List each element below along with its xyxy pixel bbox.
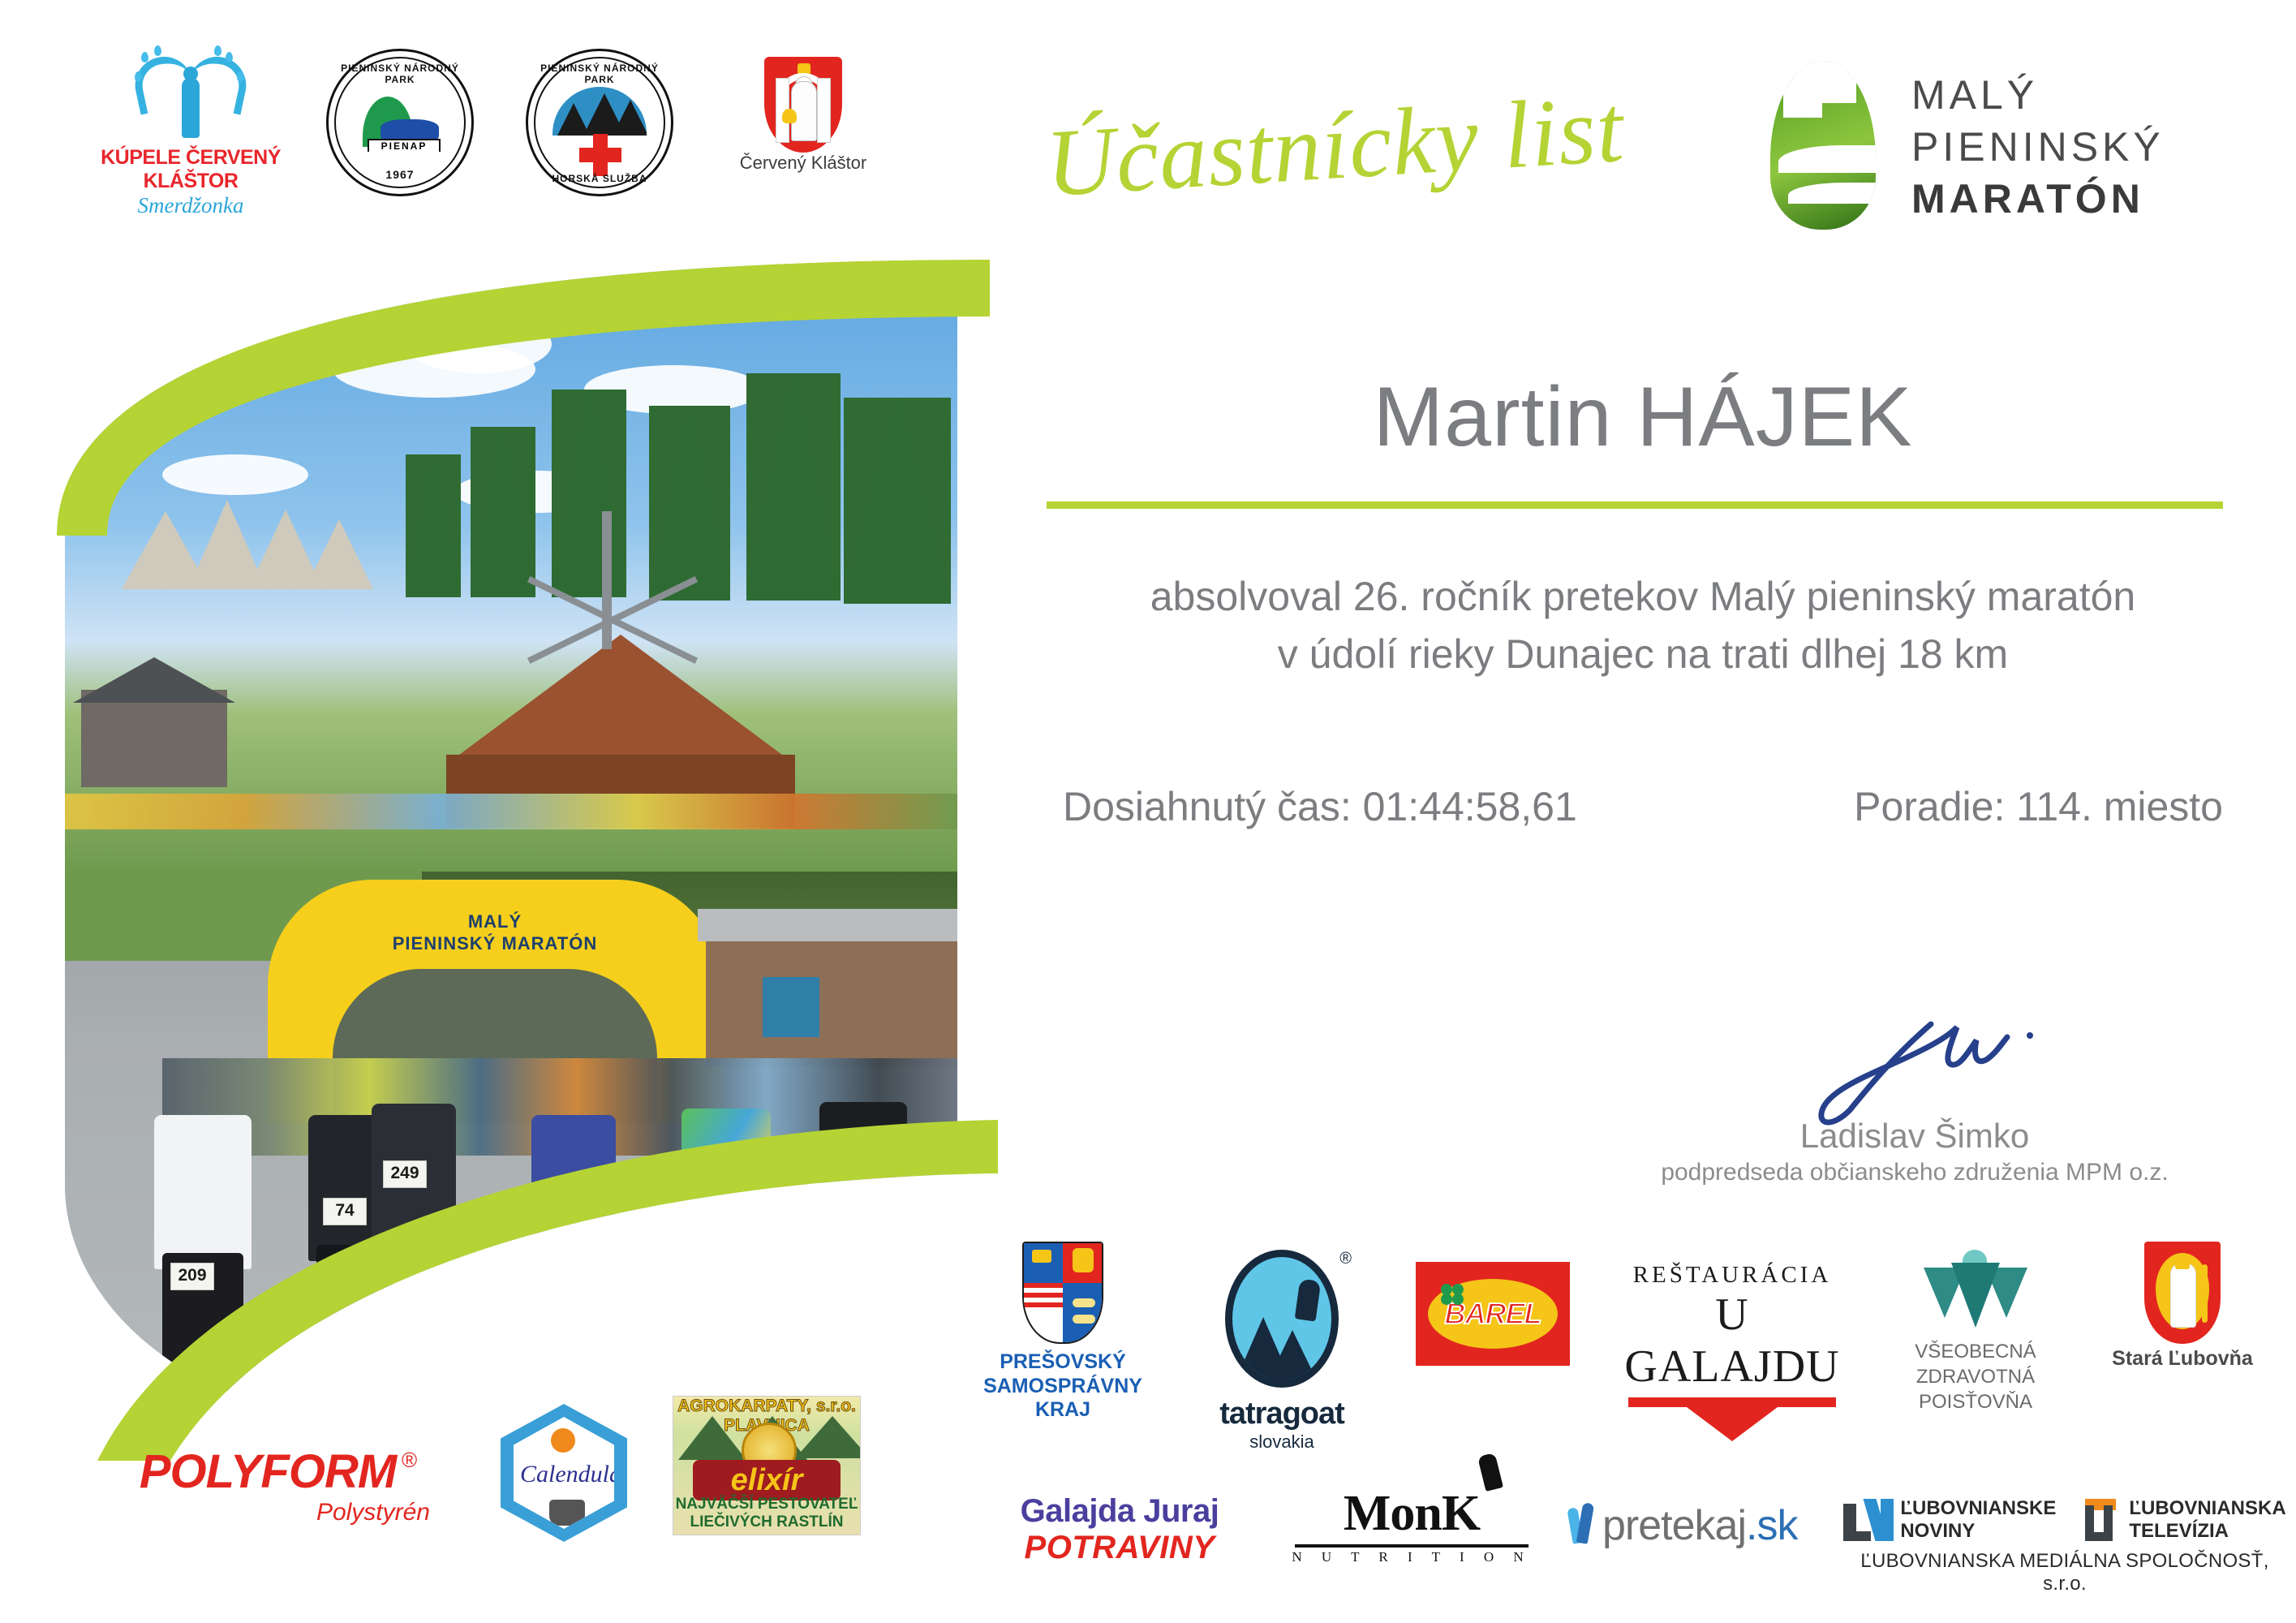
tatragoat-wordmark: tatragoat — [1180, 1397, 1383, 1431]
spa-angel-icon — [130, 49, 252, 146]
calendula-wordmark: Calendula — [520, 1461, 608, 1488]
polyform-subtitle: Polystyrén — [105, 1499, 430, 1526]
hs-arc-top: PIENINSKÝ NÁRODNÝ PARK — [528, 62, 671, 85]
monk-running-figure-icon — [1477, 1453, 1503, 1492]
sponsor-calendula: Calendula — [491, 1404, 637, 1542]
u-galajdu-top: REŠTAURÁCIA — [1615, 1262, 1850, 1289]
tv-line-2: TELEVÍZIA — [2129, 1520, 2285, 1543]
sponsor-pretekaj-sk: pretekaj.sk — [1570, 1501, 1846, 1550]
agrokarpaty-label-icon: AGROKARPATY, s.r.o. PLAVNICA elixír NAJV… — [673, 1396, 861, 1535]
pienap-year: 1967 — [329, 168, 471, 181]
sponsor-vseobecna-zdravotna-poistovna: VŠEOBECNÁ ZDRAVOTNÁ POISŤOVŇA — [1882, 1250, 2069, 1415]
result-row: Dosiahnutý čas: 01:44:58,61 Poradie: 114… — [1047, 783, 2239, 830]
kupele-line2: Smerdžonka — [81, 193, 300, 218]
pretekaj-runner-icon — [1570, 1503, 1594, 1548]
sponsor-lubovnianska-medialna-spolocnost: ĽUBOVNIANSKE NOVINY ĽUBOVNIANSKA TELEVÍZ… — [1850, 1497, 2280, 1595]
logo-cerveny-klastor: Červený Kláštor — [730, 57, 876, 174]
lubovnianska-televizia-icon — [2077, 1499, 2122, 1541]
arch-line-2: PIENINSKÝ MARATÓN — [333, 932, 657, 955]
u-galajdu-main: U GALAJDU — [1615, 1289, 1850, 1393]
hs-arc-bottom: HORSKÁ SLUŽBA — [528, 173, 671, 184]
sponsor-agrokarpaty-elixir: AGROKARPATY, s.r.o. PLAVNICA elixír NAJV… — [665, 1396, 868, 1535]
mpm-leaf-mountain-icon — [1752, 61, 1895, 231]
cerveny-klastor-caption: Červený Kláštor — [730, 153, 876, 174]
u-galajdu-ornament-bar — [1628, 1397, 1835, 1407]
galajda-line-1: Galajda Juraj — [990, 1493, 1249, 1530]
vzp-cap-1: VŠEOBECNÁ — [1882, 1339, 2069, 1364]
tatragoat-registered-mark: ® — [1339, 1250, 1352, 1268]
galajda-line-2: POTRAVINY — [990, 1530, 1249, 1566]
event-logo-line3: MARATÓN — [1911, 173, 2165, 225]
barel-logo-icon: BAREL — [1416, 1262, 1570, 1366]
sponsor-galajda-juraj: Galajda Juraj POTRAVINY — [990, 1493, 1249, 1566]
recipient-name: Martin HÁJEK — [1047, 369, 2239, 466]
calendula-hex-icon: Calendula — [501, 1404, 627, 1542]
sponsor-restauracia-u-galajdu: REŠTAURÁCIA U GALAJDU — [1615, 1262, 1850, 1441]
agrokarpaty-bottom-1: NAJVÄČŠÍ PESTOVATEĽ — [673, 1496, 860, 1513]
handwritten-signature-icon — [1623, 1006, 2207, 1128]
psk-cap-2: SAMOSPRÁVNY — [965, 1375, 1160, 1399]
monk-subtitle: N U T R I T I O N — [1290, 1549, 1533, 1565]
lubovnianske-noviny-icon — [1843, 1499, 1894, 1541]
psk-cap-1: PREŠOVSKÝ — [965, 1350, 1160, 1375]
pretekaj-word: pretekaj — [1602, 1502, 1746, 1549]
event-logo: MALÝ PIENINSKÝ MARATÓN — [1752, 61, 2272, 239]
media-company-footer: ĽUBOVNIANSKA MEDIÁLNA SPOLOČNOSŤ, s.r.o. — [1850, 1550, 2280, 1595]
finish-time: Dosiahnutý čas: 01:44:58,61 — [1063, 783, 1577, 830]
logo-kupele-cerveny-klastor: KÚPELE ČERVENÝ KLÁŠTOR Smerdžonka — [81, 49, 300, 218]
sponsor-barel: BAREL — [1404, 1262, 1582, 1366]
u-galajdu-ornament-triangle — [1687, 1407, 1778, 1441]
tatragoat-subtitle: slovakia — [1180, 1431, 1383, 1453]
signature-block: Ladislav Šimko podpredseda občianskeho z… — [1623, 1006, 2207, 1186]
stara-lubovna-coat-of-arms-icon — [2144, 1242, 2221, 1344]
name-divider-rule — [1047, 502, 2223, 509]
sponsor-monk-nutrition: MonK N U T R I T I O N — [1290, 1485, 1533, 1565]
partner-logos-row: KÚPELE ČERVENÝ KLÁŠTOR Smerdžonka PIENIN… — [81, 49, 957, 235]
runner-bib: 74 — [323, 1198, 367, 1225]
horska-sluzba-seal-icon: PIENINSKÝ NÁRODNÝ PARK HORSKÁ SLUŽBA — [526, 49, 673, 196]
stara-lubovna-caption: Stará Ľubovňa — [2101, 1347, 2264, 1371]
event-logo-line2: PIENINSKÝ — [1911, 121, 2165, 173]
event-logo-line1: MALÝ — [1911, 69, 2165, 121]
page-title: Účastnícky list — [1043, 70, 1692, 255]
psk-coat-of-arms-icon — [1022, 1242, 1103, 1344]
logo-pienap: PIENINSKÝ NÁRODNÝ PARK PIENAP 1967 — [325, 49, 475, 196]
monk-wordmark-wrap: MonK — [1290, 1485, 1533, 1543]
vzp-cap-2: ZDRAVOTNÁ — [1882, 1364, 2069, 1389]
runner-bib: 31 — [698, 1229, 742, 1256]
vzp-cap-3: POISŤOVŇA — [1882, 1389, 2069, 1414]
pienap-seal-icon: PIENINSKÝ NÁRODNÝ PARK PIENAP 1967 — [326, 49, 474, 196]
logo-horska-sluzba: PIENINSKÝ NÁRODNÝ PARK HORSKÁ SLUŽBA — [524, 49, 675, 196]
achievement-line-1: absolvoval 26. ročník pretekov Malý pien… — [1047, 568, 2239, 626]
monk-wordmark: MonK — [1344, 1486, 1480, 1541]
runner-bib: 249 — [383, 1160, 427, 1188]
agrokarpaty-bottom-2: LIEČIVÝCH RASTLÍN — [673, 1513, 860, 1531]
sponsor-polyform: POLYFORM ® Polystyrén — [105, 1444, 430, 1526]
elixir-brand: elixír — [731, 1463, 803, 1498]
signatory-role: podpredseda občianskeho združenia MPM o.… — [1623, 1159, 2207, 1186]
sponsor-tatragoat: ® tatragoat slovakia — [1180, 1250, 1383, 1453]
runner-bib: 234 — [834, 1188, 878, 1216]
monk-rule — [1295, 1544, 1529, 1548]
noviny-line-2: NOVINY — [1900, 1520, 2056, 1543]
sponsor-stara-lubovna: Stará Ľubovňa — [2101, 1242, 2264, 1371]
sponsor-presovsky-samospravny-kraj: PREŠOVSKÝ SAMOSPRÁVNY KRAJ — [965, 1242, 1160, 1423]
polyform-wordmark: POLYFORM — [140, 1445, 396, 1498]
kupele-line1: KÚPELE ČERVENÝ KLÁŠTOR — [81, 146, 300, 193]
race-photo-collage: MALÝ PIENINSKÝ MARATÓN 209 74 249 147 3 — [65, 268, 957, 1428]
pienap-center-label: PIENAP — [368, 139, 441, 152]
noviny-line-1: ĽUBOVNIANSKE — [1900, 1497, 2056, 1520]
vzp-icon — [1924, 1250, 2027, 1334]
arch-line-1: MALÝ — [333, 911, 657, 933]
runner-bib: 147 — [545, 1208, 589, 1235]
psk-cap-3: KRAJ — [965, 1398, 1160, 1423]
runner-bib: 209 — [170, 1263, 214, 1290]
pretekaj-tld: .sk — [1746, 1502, 1797, 1549]
achievement-text: absolvoval 26. ročník pretekov Malý pien… — [1047, 568, 2239, 683]
rank-placement: Poradie: 114. miesto — [1854, 783, 2223, 830]
tv-line-1: ĽUBOVNIANSKA — [2129, 1497, 2285, 1520]
achievement-line-2: v údolí rieky Dunajec na trati dlhej 18 … — [1047, 626, 2239, 683]
tatragoat-icon — [1225, 1250, 1339, 1388]
polyform-registered-mark: ® — [402, 1448, 417, 1473]
pienap-arc-text: PIENINSKÝ NÁRODNÝ PARK — [329, 62, 471, 85]
cerveny-klastor-shield-icon — [764, 57, 842, 153]
